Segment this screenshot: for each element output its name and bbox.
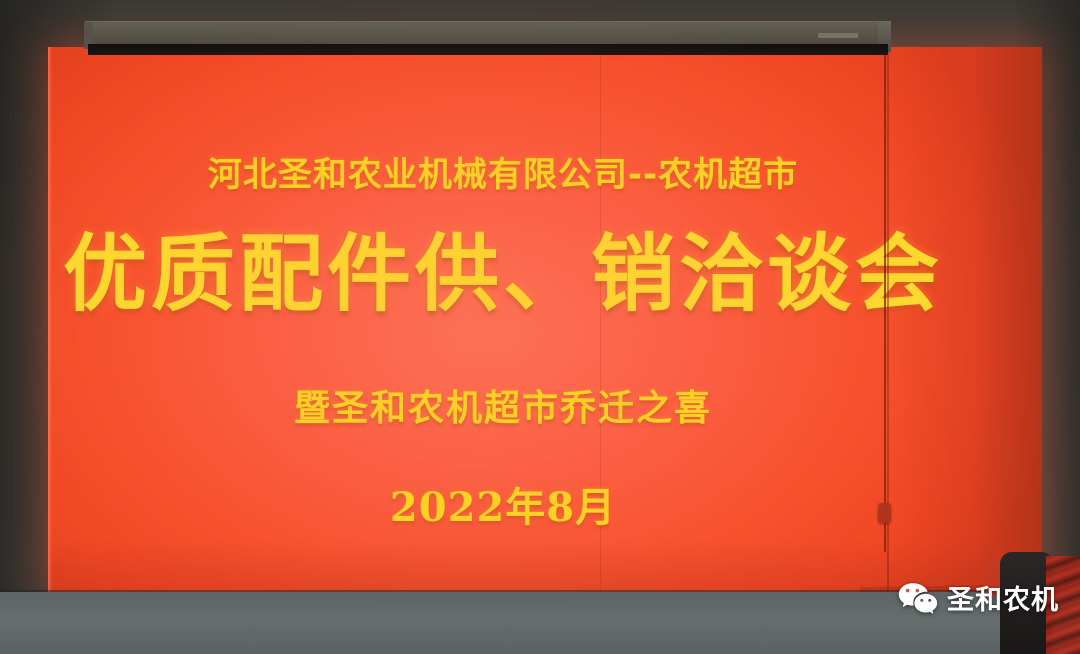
cord-clip[interactable] bbox=[878, 503, 891, 523]
wechat-watermark-label: 圣和农机 bbox=[947, 578, 1059, 617]
banner-company-line: 河北圣和农业机械有限公司--农机超市 bbox=[48, 147, 958, 196]
banner-title-line: 优质配件供、销洽谈会 bbox=[48, 207, 958, 328]
banner-text-block: 河北圣和农业机械有限公司--农机超市 优质配件供、销洽谈会 暨圣和农机超市乔迁之… bbox=[48, 47, 1042, 596]
screenshot-scene: 河北圣和农业机械有限公司--农机超市 优质配件供、销洽谈会 暨圣和农机超市乔迁之… bbox=[0, 0, 1080, 654]
wechat-watermark: 圣和农机 bbox=[898, 578, 1059, 617]
screen-pull-cord[interactable] bbox=[884, 52, 886, 552]
banner-date-line: 2022年8月 bbox=[48, 475, 958, 533]
banner-subtitle-line: 暨圣和农机超市乔迁之喜 bbox=[48, 379, 958, 431]
wechat-logo-icon bbox=[898, 581, 938, 615]
roller-slot bbox=[88, 44, 888, 55]
roller-brand-logo bbox=[818, 33, 858, 38]
